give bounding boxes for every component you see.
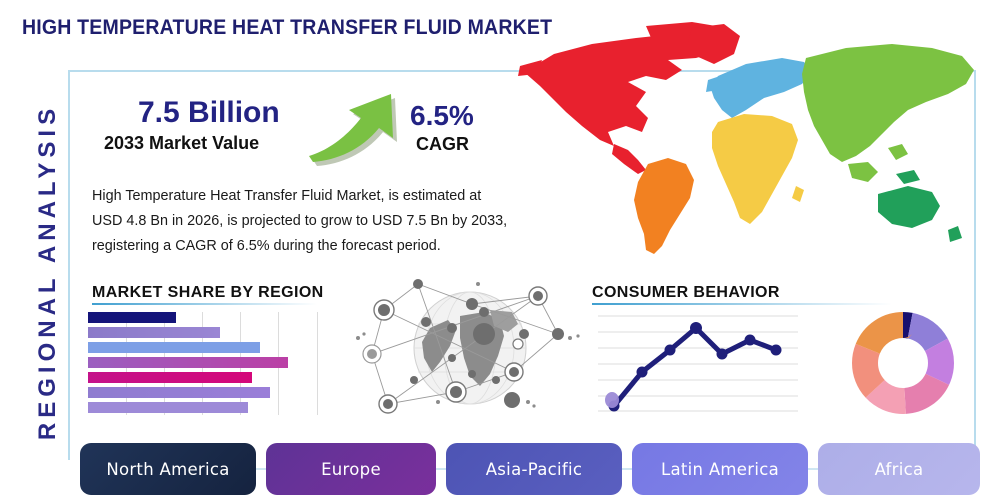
region-button-asia-pacific[interactable]: Asia-Pacific <box>446 443 622 495</box>
consumer-behavior-underline <box>592 303 892 305</box>
bar-fill <box>88 357 288 368</box>
bar-fill <box>88 312 176 323</box>
growth-arrow-icon <box>303 84 415 166</box>
market-share-underline <box>92 303 317 305</box>
region-button-label: North America <box>106 460 229 479</box>
region-button-africa[interactable]: Africa <box>818 443 980 495</box>
map-region-central-america <box>612 144 646 174</box>
bar-fill <box>88 372 252 383</box>
market-value-label: 2033 Market Value <box>104 133 259 154</box>
market-value-figure: 7.5 Billion <box>138 96 280 130</box>
map-region-africa <box>712 114 804 224</box>
bar-fill <box>88 387 270 398</box>
region-button-label: Africa <box>875 460 924 479</box>
market-description: High Temperature Heat Transfer Fluid Mar… <box>92 184 512 259</box>
region-button-label: Asia-Pacific <box>486 460 583 479</box>
vertical-section-label: REGIONAL ANALYSIS <box>34 72 62 472</box>
bar-row <box>88 372 252 383</box>
world-map <box>496 14 996 272</box>
map-region-asia <box>802 44 974 182</box>
region-button-group: North America Europe Asia-Pacific Latin … <box>80 443 980 495</box>
map-region-south-america <box>634 158 694 254</box>
consumer-behavior-heading: CONSUMER BEHAVIOR <box>592 284 780 302</box>
region-button-label: Europe <box>321 460 381 479</box>
bar-row <box>88 387 270 398</box>
regional-split-donut-chart <box>848 308 958 418</box>
cagr-figure: 6.5% <box>410 100 474 132</box>
page-title: HIGH TEMPERATURE HEAT TRANSFER FLUID MAR… <box>22 16 552 40</box>
region-button-label: Latin America <box>661 460 779 479</box>
line-chart-markers <box>609 322 782 412</box>
bar-fill <box>88 402 248 413</box>
bar-row <box>88 327 220 338</box>
line-chart-highlight-marker <box>605 392 619 408</box>
bar-row <box>88 342 260 353</box>
global-network-graphic <box>352 276 588 424</box>
market-share-bar-chart <box>88 312 318 415</box>
region-button-north-america[interactable]: North America <box>80 443 256 495</box>
region-button-europe[interactable]: Europe <box>266 443 436 495</box>
market-share-heading: MARKET SHARE BY REGION <box>92 284 324 302</box>
bar-fill <box>88 342 260 353</box>
consumer-behavior-line-chart <box>598 310 798 416</box>
bar-row <box>88 357 288 368</box>
cagr-label: CAGR <box>416 134 469 155</box>
map-region-europe <box>706 58 812 118</box>
bar-row <box>88 402 248 413</box>
infographic-root: HIGH TEMPERATURE HEAT TRANSFER FLUID MAR… <box>0 0 1000 500</box>
region-button-latin-america[interactable]: Latin America <box>632 443 808 495</box>
map-region-oceania <box>878 170 962 242</box>
bar-fill <box>88 327 220 338</box>
bar-row <box>88 312 176 323</box>
